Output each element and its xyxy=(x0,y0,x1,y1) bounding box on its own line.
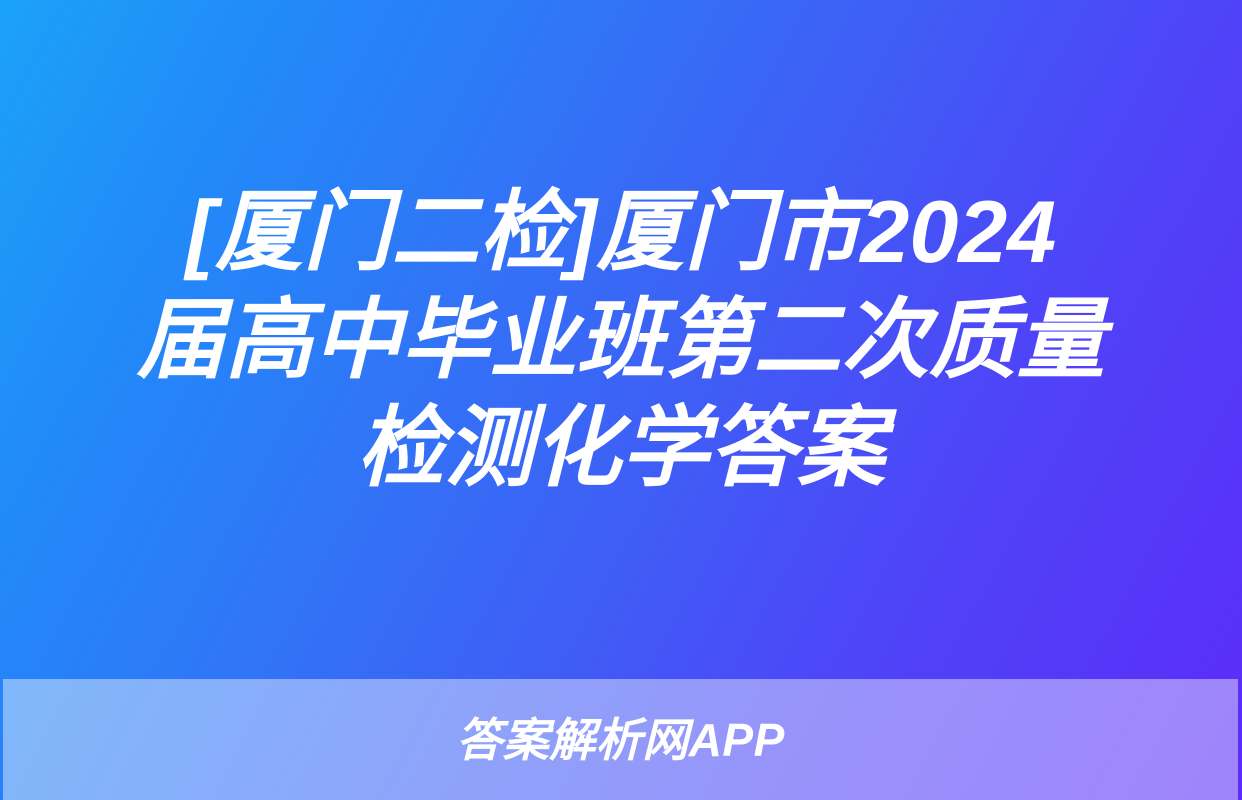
title-area: [厦门二检]厦门市2024 届高中毕业班第二次质量 检测化学答案 xyxy=(0,0,1242,679)
app-watermark-label: 答案解析网APP xyxy=(456,717,785,763)
title-line-3: 检测化学答案 xyxy=(76,394,1166,502)
footer-watermark-band: 答案解析网APP xyxy=(3,679,1238,800)
title-line-2: 届高中毕业班第二次质量 xyxy=(76,286,1166,394)
title-line-1: [厦门二检]厦门市2024 xyxy=(76,178,1166,286)
page-title: [厦门二检]厦门市2024 届高中毕业班第二次质量 检测化学答案 xyxy=(76,178,1166,502)
poster-image: [厦门二检]厦门市2024 届高中毕业班第二次质量 检测化学答案 答案解析网AP… xyxy=(0,0,1242,800)
